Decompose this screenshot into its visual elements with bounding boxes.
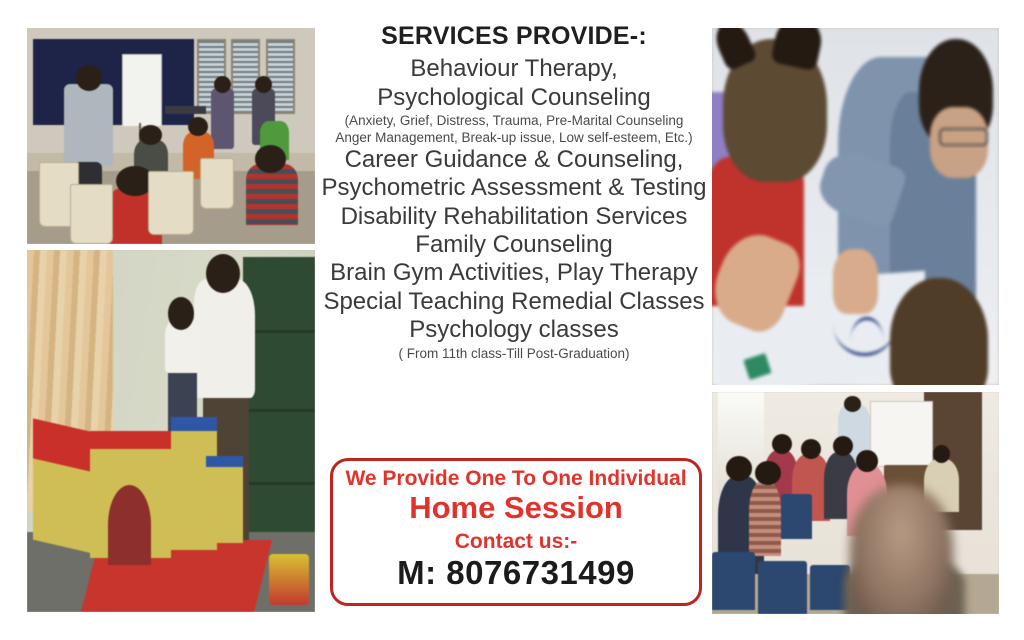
service-line-behaviour-therapy: Behaviour Therapy, — [318, 54, 710, 83]
therapy-foam-step-top — [206, 456, 243, 467]
eyeglasses-icon — [939, 128, 988, 146]
flyer-canvas: SERVICES PROVIDE-: Behaviour Therapy, Ps… — [0, 0, 1024, 640]
children-drawing-photo — [712, 28, 999, 385]
service-line-disability-rehabilitation: Disability Rehabilitation Services — [318, 203, 710, 231]
seminar-attendee-head — [726, 456, 752, 480]
classroom-facilitator-head — [76, 65, 102, 91]
adult-hand — [833, 249, 879, 313]
service-subnote-line-2: Anger Management, Break-up issue, Low se… — [318, 129, 710, 146]
classroom-attendee-head — [255, 76, 272, 93]
classroom-chair — [70, 184, 113, 244]
contact-box: We Provide One To One Individual Home Se… — [330, 458, 702, 606]
seminar-attendee-head — [833, 436, 853, 456]
service-line-family-counseling: Family Counseling — [318, 231, 710, 259]
presenter-head — [844, 396, 861, 412]
seminar-whiteboard — [870, 401, 933, 468]
service-line-psychology-classes: Psychology classes — [318, 316, 710, 344]
service-line-psychological-counseling: Psychological Counseling — [318, 83, 710, 112]
therapist-shirt — [194, 279, 254, 398]
therapy-toy — [269, 554, 309, 605]
seminar-attendee-head — [801, 439, 821, 459]
classroom-workshop-photo — [27, 28, 315, 244]
therapy-foam-block-top — [171, 417, 217, 431]
service-line-remedial-classes: Special Teaching Remedial Classes — [318, 288, 710, 316]
classroom-flipchart — [122, 54, 162, 127]
foreground-person-blurred-face — [850, 485, 953, 614]
contact-phone-number[interactable]: M: 8076731499 — [397, 555, 635, 591]
classroom-child-head — [139, 125, 162, 144]
services-heading: SERVICES PROVIDE-: — [318, 22, 710, 52]
service-line-career-guidance: Career Guidance & Counseling, — [318, 146, 710, 174]
service-line-brain-gym: Brain Gym Activities, Play Therapy — [318, 259, 710, 287]
drawing-scene — [712, 28, 999, 385]
psychology-classes-note: ( From 11th class-Till Post-Graduation) — [318, 345, 710, 363]
play-therapy-room-photo — [27, 250, 315, 612]
therapy-foam-tunnel-arch — [108, 485, 151, 565]
seminar-attendee-head — [755, 461, 781, 485]
seminar-attendee-scarf — [749, 481, 781, 556]
therapy-shelf — [243, 257, 315, 539]
classroom-facilitator-body — [64, 84, 113, 166]
seminar-chair — [758, 561, 807, 614]
seminar-scene — [712, 392, 999, 614]
therapy-shelf-divider — [243, 409, 315, 412]
therapy-foam-step — [206, 464, 243, 544]
seminar-attendee-head — [856, 450, 879, 472]
therapy-foam-block-top — [90, 431, 171, 449]
contact-home-session-label: Home Session — [409, 491, 623, 526]
classroom-child-head — [255, 145, 287, 173]
play-therapy-scene — [27, 250, 315, 612]
therapist-head — [206, 254, 241, 294]
second-child-head — [890, 278, 988, 385]
classroom-scene — [27, 28, 315, 244]
child-head — [168, 297, 194, 330]
seminar-chair — [781, 494, 813, 538]
classroom-child — [246, 164, 298, 224]
classroom-attendee-body — [211, 88, 234, 148]
service-line-psychometric-assessment: Psychometric Assessment & Testing — [318, 174, 710, 202]
classroom-chair — [200, 158, 235, 210]
classroom-chair — [148, 171, 194, 236]
seminar-audience-photo — [712, 392, 999, 614]
contact-tagline-line-1: We Provide One To One Individual — [345, 467, 686, 490]
contact-us-label: Contact us:- — [455, 530, 578, 553]
classroom-table — [165, 106, 205, 115]
service-subnote-line-1: (Anxiety, Grief, Distress, Trauma, Pre-M… — [318, 112, 710, 129]
seminar-chair — [712, 552, 755, 610]
therapy-shelf-divider — [243, 482, 315, 485]
